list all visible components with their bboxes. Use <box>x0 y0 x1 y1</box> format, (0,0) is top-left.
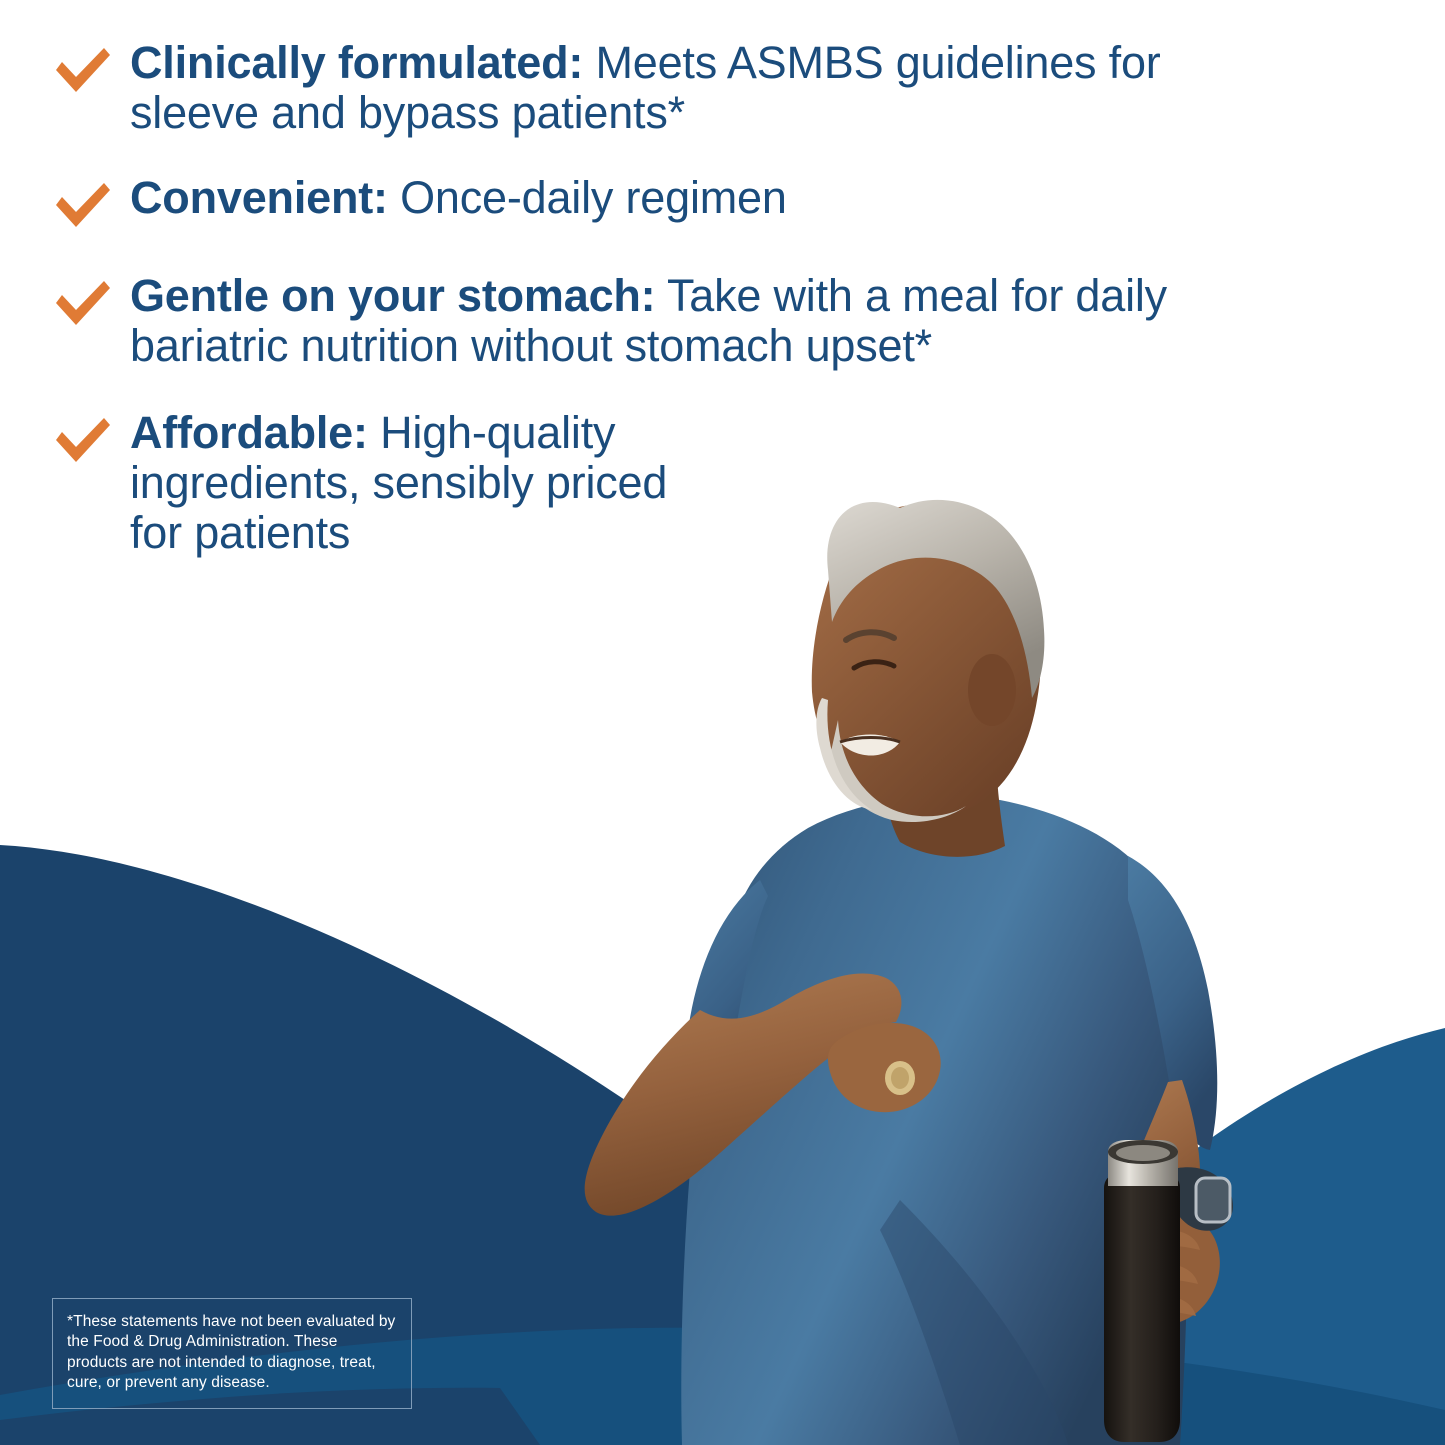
disclaimer-box: *These statements have not been evaluate… <box>52 1298 412 1409</box>
list-item-body: Once-daily regimen <box>388 172 787 223</box>
promo-canvas: Clinically formulated: Meets ASMBS guide… <box>0 0 1445 1445</box>
check-icon <box>52 414 114 468</box>
list-item-text: Clinically formulated: Meets ASMBS guide… <box>130 38 1250 139</box>
check-icon <box>52 277 114 331</box>
list-item-lead: Gentle on your stomach: <box>130 270 655 321</box>
benefits-list: Clinically formulated: Meets ASMBS guide… <box>52 38 1282 593</box>
list-item-lead: Clinically formulated: <box>130 37 583 88</box>
check-icon <box>52 44 114 98</box>
list-item: Clinically formulated: Meets ASMBS guide… <box>52 38 1282 139</box>
disclaimer-text: *These statements have not been evaluate… <box>67 1312 397 1394</box>
list-item: Convenient: Once-daily regimen <box>52 173 1282 233</box>
list-item-lead: Convenient: <box>130 172 388 223</box>
list-item-text: Convenient: Once-daily regimen <box>130 173 787 223</box>
list-item-lead: Affordable: <box>130 407 368 458</box>
list-item: Gentle on your stomach: Take with a meal… <box>52 271 1282 372</box>
list-item-text: Gentle on your stomach: Take with a meal… <box>130 271 1220 372</box>
list-item: Affordable: High-quality ingredients, se… <box>52 408 1282 559</box>
list-item-text: Affordable: High-quality ingredients, se… <box>130 408 730 559</box>
check-icon <box>52 179 114 233</box>
